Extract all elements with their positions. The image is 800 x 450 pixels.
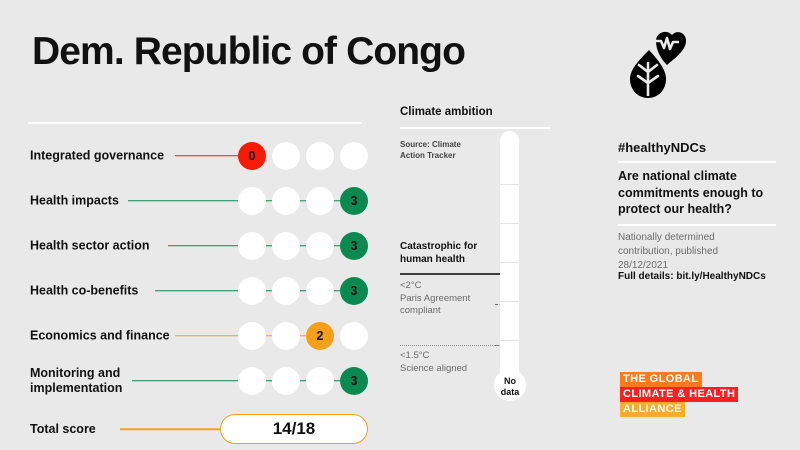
score-dot-empty [306, 277, 334, 305]
panel-details-link[interactable]: Full details: bit.ly/HealthyNDCs [618, 271, 766, 282]
score-dot-empty [340, 322, 368, 350]
score-dot-empty [272, 322, 300, 350]
score-dot-empty [272, 367, 300, 395]
score-dot-filled: 3 [340, 187, 368, 215]
score-dot-group: 3 [238, 187, 368, 215]
ambition-divider [400, 127, 550, 129]
title-divider [28, 122, 362, 124]
score-row-label: Integrated governance [30, 148, 164, 163]
score-row-label: Economics and finance [30, 328, 170, 343]
score-dot-empty [272, 277, 300, 305]
alliance-logo: THE GLOBAL CLIMATE & HEALTH ALLIANCE [620, 372, 738, 417]
score-dot-group: 3 [238, 367, 368, 395]
hashtag: #healthyNDCs [618, 140, 706, 155]
score-dot-group: 0 [238, 142, 368, 170]
alliance-line-3: ALLIANCE [620, 402, 685, 417]
score-dot-empty [238, 322, 266, 350]
ambition-source: Source: Climate Action Tracker [400, 139, 570, 162]
thermometer-tick [500, 301, 519, 302]
score-dot-empty [306, 142, 334, 170]
score-dot-empty [238, 187, 266, 215]
score-row-label: Health impacts [30, 193, 119, 208]
score-dot-group: 3 [238, 232, 368, 260]
thermometer-tick [500, 340, 519, 341]
score-row: Health impacts3 [28, 178, 368, 223]
band-label-catastrophic: Catastrophic for human health [400, 240, 477, 266]
score-dot-group: 3 [238, 277, 368, 305]
score-row: Health sector action3 [28, 223, 368, 268]
score-row-label: Health sector action [30, 238, 149, 253]
score-dot-empty [306, 187, 334, 215]
climate-ambition-title: Climate ambition [400, 106, 570, 118]
score-row: Integrated governance0 [28, 133, 368, 178]
score-dot-filled: 0 [238, 142, 266, 170]
score-dot-empty [272, 232, 300, 260]
climate-ambition-section: Climate ambition Source: Climate Action … [400, 106, 570, 426]
score-dot-empty [272, 142, 300, 170]
band-label-science: <1.5°C Science aligned [400, 350, 467, 375]
score-row: Monitoring and implementation3 [28, 358, 368, 403]
score-dot-filled: 3 [340, 232, 368, 260]
score-dot-empty [306, 367, 334, 395]
score-dot-filled: 2 [306, 322, 334, 350]
score-row-label: Health co-benefits [30, 283, 138, 298]
ambition-thermometer: No data [494, 131, 526, 421]
score-dot-empty [340, 142, 368, 170]
score-row: Economics and finance2 [28, 313, 368, 358]
alliance-line-1: THE GLOBAL [620, 372, 702, 387]
score-dot-empty [306, 232, 334, 260]
panel-headline: Are national climate commitments enough … [618, 168, 778, 218]
panel-divider-top [618, 161, 776, 163]
score-dot-empty [238, 277, 266, 305]
page-title: Dem. Republic of Congo [32, 32, 465, 71]
scorecard: Integrated governance0Health impacts3Hea… [28, 133, 368, 450]
score-dot-filled: 3 [340, 367, 368, 395]
panel-divider-bottom [618, 224, 776, 226]
score-dot-group: 2 [238, 322, 368, 350]
panel-meta: Nationally determined contribution, publ… [618, 231, 783, 272]
score-dot-empty [272, 187, 300, 215]
thermometer-tick [500, 262, 519, 263]
total-score-label: Total score [30, 422, 96, 436]
score-row: Health co-benefits3 [28, 268, 368, 313]
thermometer-bulb-label: No data [494, 376, 526, 397]
thermometer-tick [500, 223, 519, 224]
total-score-value: 14/18 [220, 414, 368, 444]
alliance-line-2: CLIMATE & HEALTH [620, 387, 738, 402]
band-divider-science [400, 345, 503, 346]
score-dot-filled: 3 [340, 277, 368, 305]
heart-leaf-logo-icon [625, 28, 687, 100]
thermometer-tick [500, 184, 519, 185]
band-label-paris: <2°C Paris Agreement compliant [400, 280, 470, 318]
total-score-row: Total score14/18 [28, 407, 368, 450]
thermometer-tube [500, 131, 519, 381]
score-dot-empty [238, 367, 266, 395]
score-dot-empty [238, 232, 266, 260]
infographic-page: Dem. Republic of Congo Integrated govern… [0, 0, 800, 450]
score-row-label: Monitoring and implementation [30, 365, 122, 396]
